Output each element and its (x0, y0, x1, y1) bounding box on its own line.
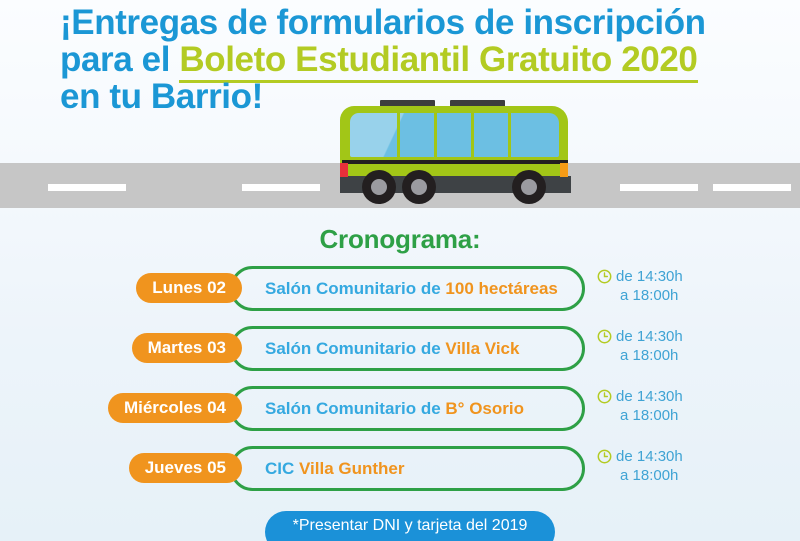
time-to: a 18:00h (620, 286, 683, 305)
bus-wheel (362, 170, 396, 204)
schedule-row: Martes 03 Salón Comunitario de Villa Vic… (0, 322, 800, 382)
headline-line-2-prefix: para el (60, 40, 179, 79)
bus-window-divider (397, 113, 400, 157)
venue-label: CIC Villa Gunther (265, 446, 405, 491)
schedule-list: Lunes 02 Salón Comunitario de 100 hectár… (0, 262, 800, 502)
time-to: a 18:00h (620, 346, 683, 365)
venue-prefix: Salón Comunitario de (265, 279, 445, 298)
bus-wheel (512, 170, 546, 204)
time-block: de 14:30h a 18:00h (597, 387, 683, 425)
bus-icon (330, 100, 575, 200)
bus-window-divider (508, 113, 511, 157)
headline-line-2: para el Boleto Estudiantil Gratuito 2020 (60, 41, 760, 78)
venue-label: Salón Comunitario de B° Osorio (265, 386, 524, 431)
schedule-row: Lunes 02 Salón Comunitario de 100 hectár… (0, 262, 800, 322)
venue-label: Salón Comunitario de Villa Vick (265, 326, 519, 371)
time-block: de 14:30h a 18:00h (597, 327, 683, 365)
time-lines: de 14:30h a 18:00h (616, 387, 683, 425)
day-badge[interactable]: Jueves 05 (129, 453, 242, 483)
time-to: a 18:00h (620, 406, 683, 425)
venue-highlight: Villa Vick (445, 339, 519, 358)
clock-icon (597, 329, 612, 344)
page-title: ¡Entregas de formularios de inscripción … (60, 4, 760, 115)
road-dash (242, 184, 320, 191)
bus-window-divider (434, 113, 437, 157)
venue-highlight: B° Osorio (445, 399, 524, 418)
venue-prefix: Salón Comunitario de (265, 339, 445, 358)
venue-prefix: Salón Comunitario de (265, 399, 445, 418)
clock-icon (597, 449, 612, 464)
time-lines: de 14:30h a 18:00h (616, 327, 683, 365)
venue-label: Salón Comunitario de 100 hectáreas (265, 266, 558, 311)
headline-line-1: ¡Entregas de formularios de inscripción (60, 4, 760, 41)
schedule-row: Miércoles 04 Salón Comunitario de B° Oso… (0, 382, 800, 442)
bus-window-divider (471, 113, 474, 157)
road-dash (620, 184, 698, 191)
time-from: de 14:30h (616, 387, 683, 406)
bus-windows (350, 113, 559, 157)
clock-icon (597, 389, 612, 404)
day-badge[interactable]: Martes 03 (132, 333, 242, 363)
poster-canvas: ¡Entregas de formularios de inscripción … (0, 0, 800, 541)
time-block: de 14:30h a 18:00h (597, 267, 683, 305)
bus-taillight-icon (340, 163, 348, 177)
bus-beltline (342, 160, 568, 164)
time-from: de 14:30h (616, 327, 683, 346)
road-dash (48, 184, 126, 191)
schedule-row: Jueves 05 CIC Villa Gunther de 14:30h a … (0, 442, 800, 502)
bus-headlight-icon (560, 163, 568, 177)
time-lines: de 14:30h a 18:00h (616, 267, 683, 305)
venue-highlight: 100 hectáreas (445, 279, 557, 298)
bus-wheel (402, 170, 436, 204)
time-from: de 14:30h (616, 267, 683, 286)
time-from: de 14:30h (616, 447, 683, 466)
time-to: a 18:00h (620, 466, 683, 485)
footer-note-banner: *Presentar DNI y tarjeta del 2019 (265, 511, 555, 541)
schedule-heading: Cronograma: (0, 224, 800, 255)
time-block: de 14:30h a 18:00h (597, 447, 683, 485)
time-lines: de 14:30h a 18:00h (616, 447, 683, 485)
clock-icon (597, 269, 612, 284)
day-badge[interactable]: Lunes 02 (136, 273, 242, 303)
venue-prefix: CIC (265, 459, 299, 478)
day-badge[interactable]: Miércoles 04 (108, 393, 242, 423)
venue-highlight: Villa Gunther (299, 459, 405, 478)
road-dash (713, 184, 791, 191)
